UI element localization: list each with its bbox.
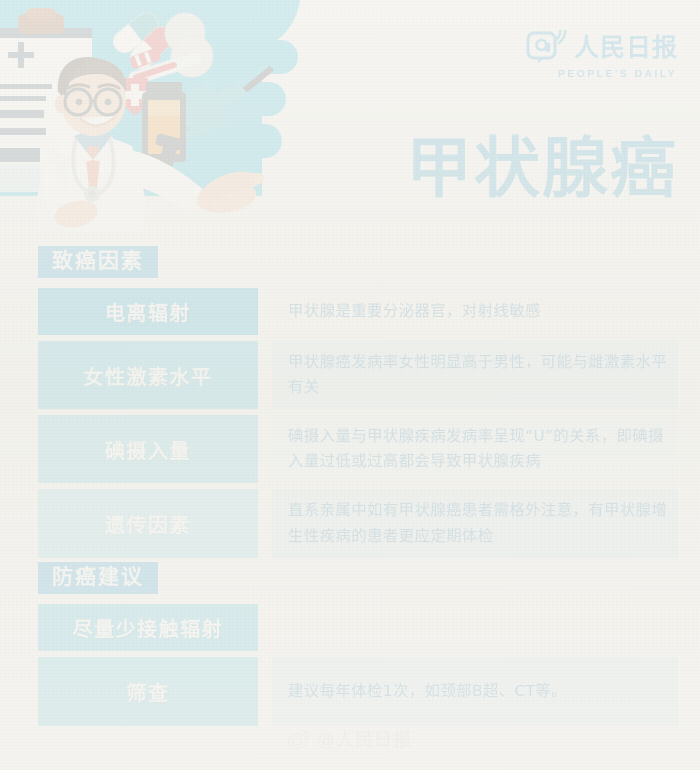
- rows-causes: 电离辐射 甲状腺是重要分泌器官，对射线敏感 女性激素水平 甲状腺癌发病率女性明显…: [0, 288, 700, 558]
- section-advice: 防癌建议 尽量少接触辐射 筛查 建议每年体检1次，如颈部B超、CT等。: [0, 562, 700, 732]
- weibo-icon: [288, 729, 310, 749]
- section-heading-advice: 防癌建议: [38, 562, 158, 594]
- section-causes: 致癌因素 电离辐射 甲状腺是重要分泌器官，对射线敏感 女性激素水平 甲状腺癌发病…: [0, 246, 700, 564]
- row-text: 建议每年体检1次，如颈部B超、CT等。: [272, 657, 678, 726]
- row-label: 筛查: [38, 657, 258, 726]
- row-text: 甲状腺是重要分泌器官，对射线敏感: [272, 288, 678, 335]
- brand-logo: 人民日报 PEOPLE'S DAILY: [526, 30, 678, 80]
- row-label: 遗传因素: [38, 489, 258, 557]
- infographic-page: 人民日报 PEOPLE'S DAILY 甲状腺癌 致癌因素 电离辐射 甲状腺是重…: [0, 0, 700, 770]
- at-speech-bubble-icon: [526, 30, 568, 64]
- logo-row: 人民日报: [526, 30, 678, 64]
- row-label: 女性激素水平: [38, 341, 258, 409]
- row-label: 尽量少接触辐射: [38, 604, 258, 651]
- logo-english-name: PEOPLE'S DAILY: [558, 68, 677, 80]
- table-row: 电离辐射 甲状腺是重要分泌器官，对射线敏感: [0, 288, 700, 335]
- table-row: 遗传因素 直系亲属中如有甲状腺癌患者需格外注意，有甲状腺增生性疾病的患者更应定期…: [0, 489, 700, 557]
- table-row: 筛查 建议每年体检1次，如颈部B超、CT等。: [0, 657, 700, 726]
- row-label: 碘摄入量: [38, 415, 258, 483]
- table-row: 女性激素水平 甲状腺癌发病率女性明显高于男性，可能与雌激素水平有关: [0, 341, 700, 409]
- section-heading-causes: 致癌因素: [38, 246, 158, 278]
- page-title: 甲状腺癌: [406, 136, 678, 202]
- table-row: 尽量少接触辐射: [0, 604, 700, 651]
- row-text: [272, 604, 678, 651]
- watermark: @人民日报: [0, 726, 700, 752]
- row-text: 碘摄入量与甲状腺疾病发病率呈现“U”的关系，即碘摄入量过低或过高都会导致甲状腺疾…: [272, 415, 678, 483]
- row-label: 电离辐射: [38, 288, 258, 335]
- row-text: 甲状腺癌发病率女性明显高于男性，可能与雌激素水平有关: [272, 341, 678, 409]
- table-row: 碘摄入量 碘摄入量与甲状腺疾病发病率呈现“U”的关系，即碘摄入量过低或过高都会导…: [0, 415, 700, 483]
- logo-chinese-name: 人民日报: [574, 35, 678, 60]
- row-text: 直系亲属中如有甲状腺癌患者需格外注意，有甲状腺增生性疾病的患者更应定期体检: [272, 489, 678, 557]
- rows-advice: 尽量少接触辐射 筛查 建议每年体检1次，如颈部B超、CT等。: [0, 604, 700, 726]
- watermark-text: @人民日报: [317, 726, 412, 752]
